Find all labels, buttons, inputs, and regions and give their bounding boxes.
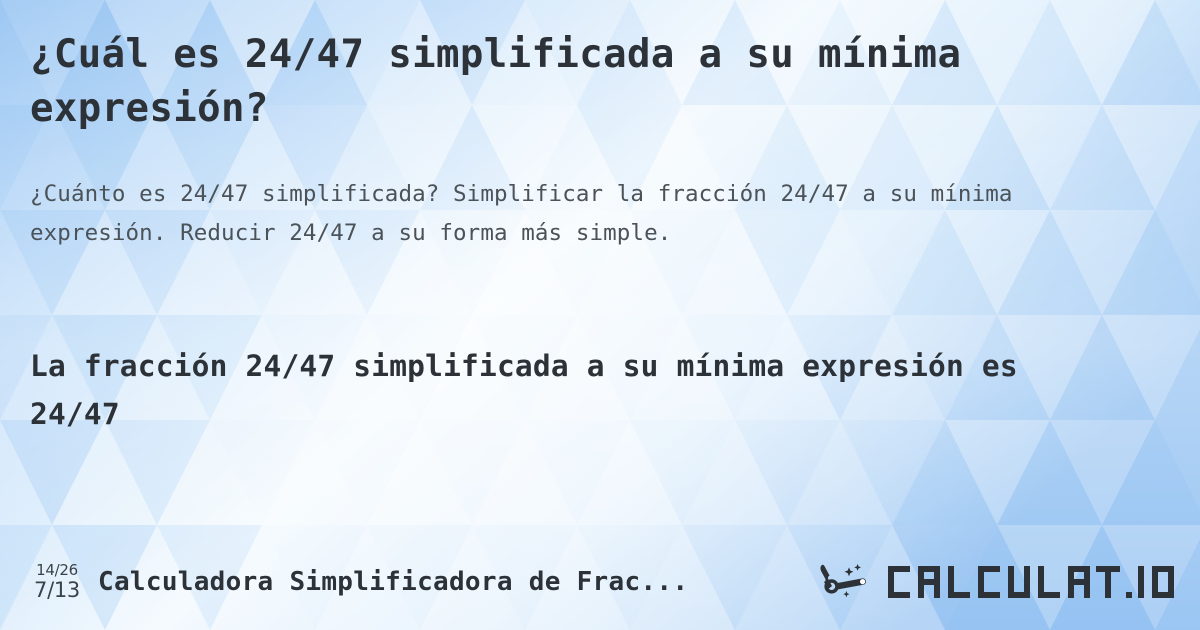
page-title: ¿Cuál es 24/47 simplificada a su mínima …	[30, 28, 1040, 136]
brand-logo[interactable]: CALCULAT.IO	[818, 561, 1178, 603]
footer: 14/26 7/13 Calculadora Simplificadora de…	[30, 558, 1178, 606]
content-layer: ¿Cuál es 24/47 simplificada a su mínima …	[0, 0, 1200, 630]
footer-left-group: 14/26 7/13 Calculadora Simplificadora de…	[30, 563, 688, 601]
fraction-icon: 14/26 7/13	[30, 563, 84, 601]
fraction-icon-numerator: 14/26	[36, 563, 78, 578]
page-description: ¿Cuánto es 24/47 simplificada? Simplific…	[30, 175, 1120, 253]
magic-wand-hand-icon	[818, 561, 880, 603]
site-title: Calculadora Simplificadora de Frac...	[98, 567, 688, 597]
answer-statement: La fracción 24/47 simplificada a su míni…	[30, 342, 1090, 438]
og-image-card: ¿Cuál es 24/47 simplificada a su mínima …	[0, 0, 1200, 630]
fraction-icon-denominator: 7/13	[34, 580, 80, 601]
calculatio-wordmark: CALCULAT.IO	[886, 562, 1178, 602]
